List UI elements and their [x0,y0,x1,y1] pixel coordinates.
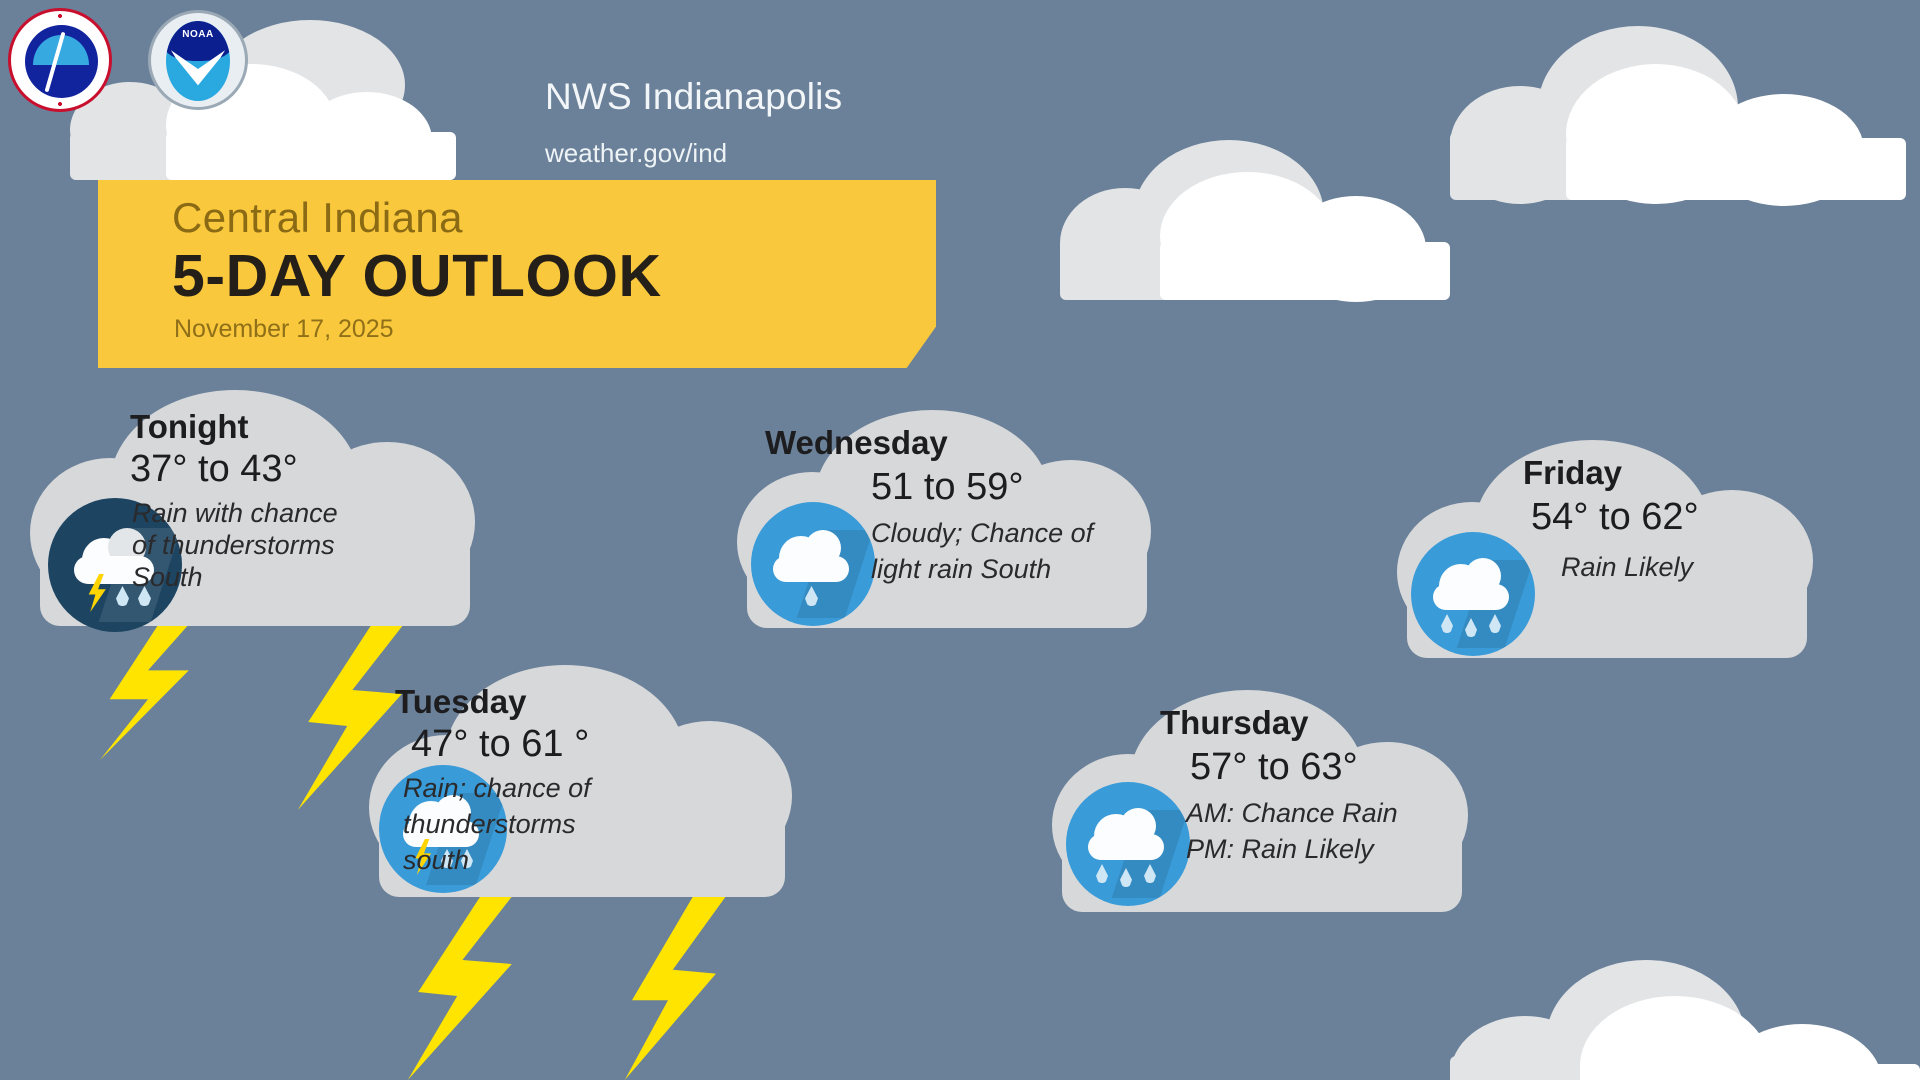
forecast-panel-tuesday: Tuesday 47° to 61 ° Rain; chance of thun… [365,665,805,925]
nws-logo [8,8,112,112]
temperature-tuesday: 47° to 61 ° [411,723,589,766]
banner-date: November 17, 2025 [174,315,394,344]
forecast-panel-thursday: Thursday 57° to 63° AM: Chance Rain PM: … [1050,690,1480,940]
outlook-banner: Central Indiana 5-DAY OUTLOOK November 1… [98,180,936,368]
outlook-graphic: NOAA NWS Indianapolis weather.gov/ind Ce… [0,0,1920,1080]
forecast-panel-friday: Friday 54° to 62° Rain Likely [1395,440,1825,680]
day-label-friday: Friday [1523,454,1622,492]
forecast-panel-tonight: Tonight 37° to 43° Rain with chance of t… [20,390,490,650]
day-label-thursday: Thursday [1160,704,1309,742]
temperature-wednesday: 51 to 59° [871,466,1024,509]
forecast-panel-wednesday: Wednesday 51 to 59° Cloudy; Chance of li… [735,410,1165,650]
description-tuesday-line2: thunderstorms [403,809,576,840]
weather-icon-cloud-rain-icon [1066,782,1190,906]
day-label-tonight: Tonight [130,408,249,446]
day-label-tuesday: Tuesday [395,683,526,721]
banner-region-label: Central Indiana [172,194,463,242]
temperature-thursday: 57° to 63° [1190,746,1358,789]
background-cloud-bottom-right [1450,960,1920,1080]
description-tonight-line2: of thunderstorms [132,530,335,561]
background-cloud-top-center-right [1060,130,1480,300]
description-tonight-line3: South [132,562,203,593]
description-tonight-line1: Rain with chance [132,498,338,529]
noaa-logo-text: NOAA [151,29,245,40]
description-wednesday-line2: light rain South [871,554,1051,585]
page-title: NWS Indianapolis [545,76,842,118]
description-tuesday-line1: Rain; chance of [403,773,591,804]
description-thursday-line2: PM: Rain Likely [1186,834,1374,865]
background-cloud-top-right [1450,20,1920,200]
description-friday-line1: Rain Likely [1561,552,1693,583]
noaa-logo: NOAA [148,10,248,110]
temperature-friday: 54° to 62° [1531,496,1699,539]
background-cloud-top-left [70,20,490,170]
weather-icon-cloud-light-rain-icon [751,502,875,626]
temperature-tonight: 37° to 43° [130,448,298,491]
description-thursday-line1: AM: Chance Rain [1186,798,1398,829]
weather-icon-cloud-rain-icon [1411,532,1535,656]
day-label-wednesday: Wednesday [765,424,948,462]
banner-title: 5-DAY OUTLOOK [172,242,662,310]
description-wednesday-line1: Cloudy; Chance of [871,518,1093,549]
website-url: weather.gov/ind [545,138,727,169]
description-tuesday-line3: south [403,845,469,876]
